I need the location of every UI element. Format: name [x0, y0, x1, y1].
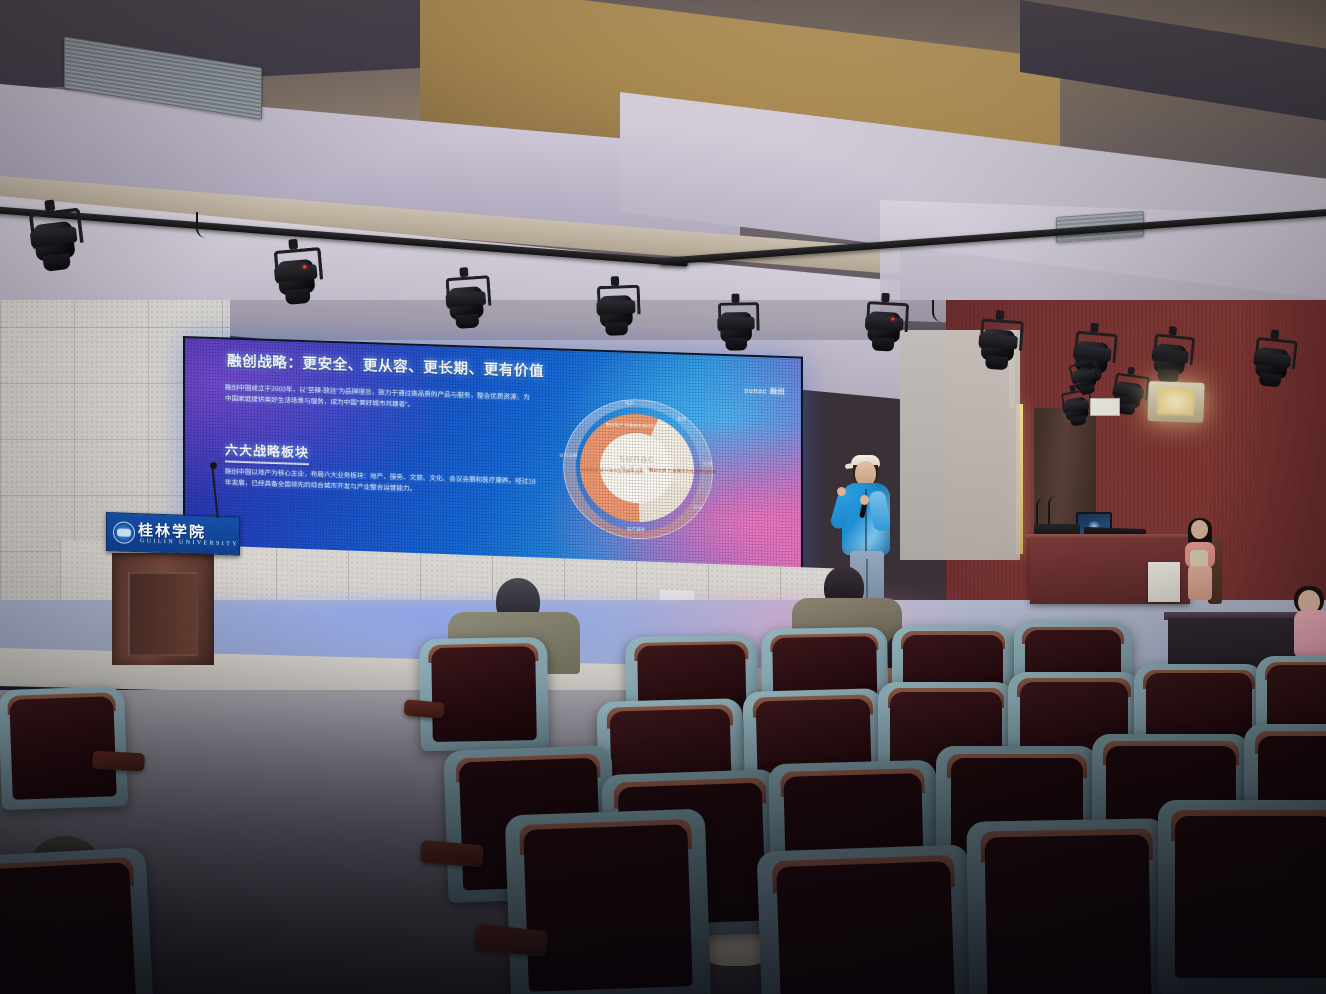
stage-light-5	[716, 300, 756, 352]
sunac-logo: sunac融创	[741, 385, 785, 397]
slide-title: 融创战略：更安全、更从容、更长期、更有价值	[227, 349, 647, 384]
attendee-far-right-top	[1294, 610, 1326, 660]
sunac-logo-cn: 融创	[770, 388, 785, 395]
sunac-logo-latin: sunac	[744, 388, 767, 396]
donut-label-0: 地产	[625, 401, 634, 407]
podium-microphone-icon	[210, 462, 217, 469]
podium-sign-en: GUILIN UNIVERSITY	[140, 538, 239, 547]
donut-label-1: 服务	[677, 416, 686, 422]
seat-row4-0	[0, 847, 155, 994]
donut-label-4: 医疗康养	[627, 527, 645, 534]
seat-row2-0	[0, 686, 128, 810]
seated-attendee-head	[1191, 520, 1208, 539]
presenter-left-hand	[837, 487, 846, 496]
donut-label-2: 文旅	[703, 461, 712, 467]
donut-center-brand: sunac	[619, 452, 654, 465]
presenter-right-hand	[860, 495, 869, 505]
podium-panel	[128, 572, 198, 656]
led-presentation-screen: 融创战略：更安全、更从容、更长期、更有价值 sunac融创 融创中国成立于200…	[183, 336, 803, 576]
podium-sign: 桂林学院 GUILIN UNIVERSITY	[106, 512, 240, 556]
seated-attendee-legs	[1188, 566, 1212, 600]
stage-light-7	[976, 316, 1020, 372]
donut-label-5: 会议会展	[559, 452, 577, 459]
attendee-far-right-edge	[1296, 588, 1326, 658]
stage-light-4	[595, 283, 638, 337]
seat-row4-1	[505, 809, 712, 994]
stage-floodlight-on	[1147, 381, 1204, 423]
truss-cable-1	[196, 212, 210, 238]
desk-mic-stand-1	[1036, 498, 1048, 524]
stage-light-10	[1250, 335, 1294, 390]
white-paper-bag	[1148, 562, 1180, 602]
seat-row4-3	[966, 818, 1169, 994]
truss-cable-2	[932, 300, 944, 322]
university-crest-icon	[113, 521, 135, 544]
slide-donut-diagram: sunac 融 创 中 国 地产 服务 文旅 文化 医疗康养 会议会展 融创地产…	[553, 390, 721, 546]
slide-heading-2: 六大战略板块	[225, 439, 309, 465]
donut-segment-1: 融创文旅 打造城市文化消费目的地	[649, 467, 689, 474]
stage-light-1	[26, 206, 82, 275]
seat-row4-4	[1158, 800, 1326, 994]
stage-light-2	[271, 245, 321, 307]
seat-row4-2	[757, 844, 976, 994]
presenter-leg-split	[866, 559, 868, 599]
seat-row1-1	[419, 637, 549, 751]
stage-light-6	[863, 299, 906, 353]
stage-light-3	[443, 273, 489, 330]
truss-control-box	[1090, 398, 1120, 416]
donut-label-3: 文化	[693, 505, 702, 511]
desk-mic-stand-2	[1048, 496, 1062, 524]
seated-attendee-back-right	[1180, 520, 1218, 606]
lecture-hall-photo: 融创战略：更安全、更从容、更长期、更有价值 sunac融创 融创中国成立于200…	[0, 0, 1326, 994]
stage-light-9	[1148, 331, 1191, 385]
donut-segment-2: 融创服务 提升城市生活服务品质	[581, 467, 617, 474]
slide-paragraph-1: 融创中国成立于2003年，以“至臻·致远”为品牌理念，致力于通过高品质的产品与服…	[225, 383, 535, 414]
slide-paragraph-2: 融创中国以地产为核心主业，布局六大业务板块：地产、服务、文旅、文化、会议会展和医…	[225, 467, 537, 498]
